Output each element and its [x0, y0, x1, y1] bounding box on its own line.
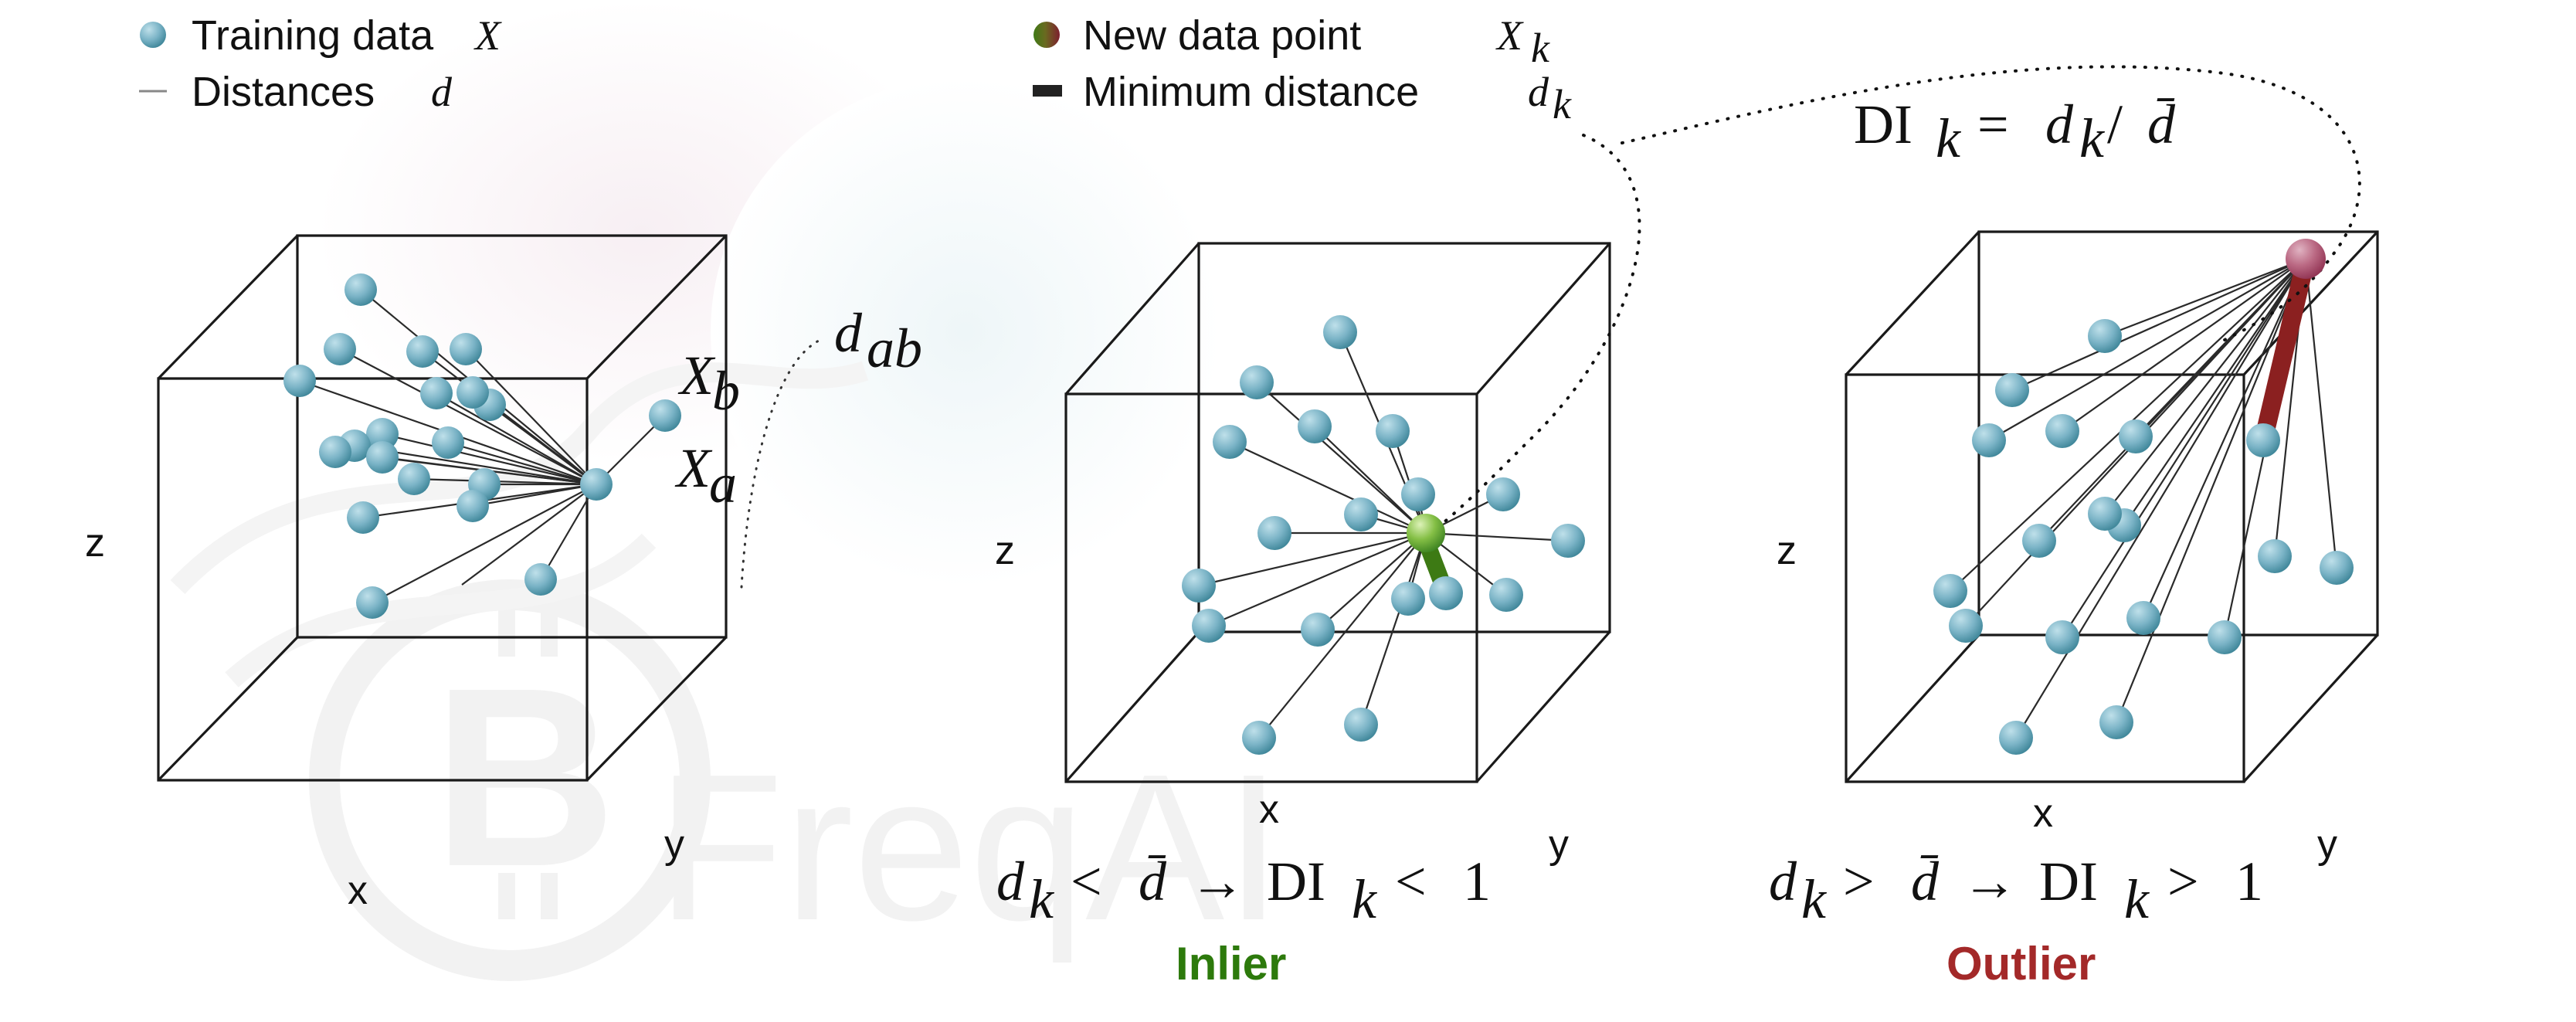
- data-point: [1949, 609, 1983, 643]
- figure-root: B FreqAI: [0, 0, 2576, 1022]
- new-data-point-outlier: [2286, 239, 2326, 279]
- cap3-d: d: [1769, 851, 1797, 912]
- data-point: [2099, 705, 2133, 739]
- cap3-DI-sub: k: [2124, 868, 2150, 930]
- cap3-dbar: d̄: [1911, 851, 1940, 912]
- data-point: [2258, 539, 2292, 573]
- cap3-one: 1: [2235, 851, 2263, 912]
- data-point: [2045, 620, 2079, 654]
- verdict-outlier: Outlier: [1946, 938, 2096, 990]
- data-point: [1972, 423, 2006, 457]
- panel-3-labels: z y x: [1777, 528, 2337, 867]
- data-point: [2045, 414, 2079, 448]
- data-point: [2208, 620, 2242, 654]
- caption-formula-outlier: d k > d̄ → DI k > 1: [1769, 851, 2263, 930]
- cap3-gt2: >: [2167, 851, 2199, 912]
- cap3-gt: >: [1843, 851, 1875, 912]
- cap3-DI: DI: [2039, 851, 2098, 912]
- data-point: [2320, 551, 2354, 585]
- data-point: [1933, 574, 1967, 608]
- data-point: [2126, 601, 2160, 635]
- axis-label-z: z: [1777, 528, 1797, 573]
- data-point: [1999, 721, 2033, 755]
- data-point: [2088, 319, 2122, 353]
- cap3-k: k: [1801, 868, 1828, 930]
- data-point: [2088, 497, 2122, 531]
- distance-lines-3: [1950, 259, 2337, 738]
- data-point-nearest: [2246, 423, 2280, 457]
- data-point: [1995, 373, 2029, 407]
- cap3-arrow: →: [1962, 851, 2018, 912]
- axis-label-y: y: [2317, 822, 2337, 867]
- panel-outlier: z y x d k > d̄ → DI k > 1 Outlier: [0, 0, 2576, 1022]
- data-point: [2119, 419, 2153, 453]
- data-point: [2022, 524, 2056, 558]
- axis-label-x: x: [2033, 791, 2053, 836]
